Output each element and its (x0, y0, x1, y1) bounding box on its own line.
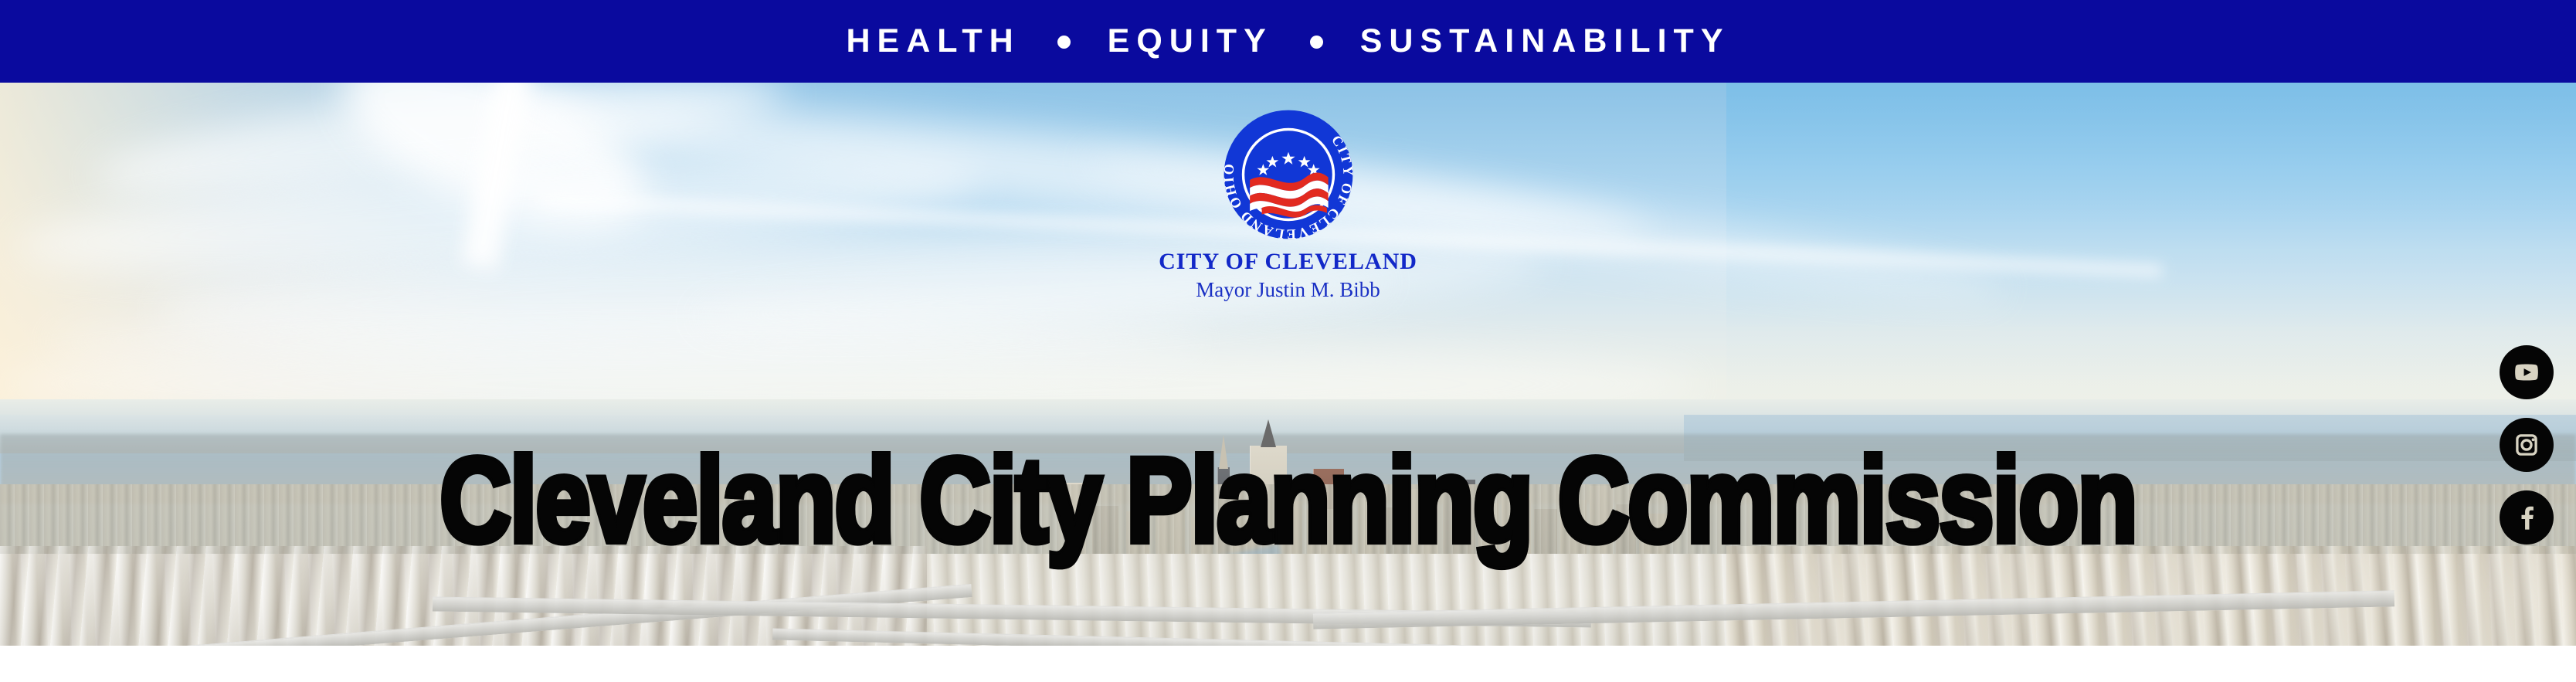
social-media-rail (2499, 345, 2554, 545)
instagram-icon (2510, 428, 2544, 462)
youtube-link[interactable] (2500, 345, 2554, 399)
bullet-dot-icon (1057, 36, 1071, 49)
city-of-cleveland-logo[interactable]: CITY OF CLEVELAND OHIO CITY OF CLEVELAND… (1126, 108, 1451, 302)
tagline-word-sustainability: SUSTAINABILITY (1360, 25, 1730, 58)
logo-mayor-name: Mayor Justin M. Bibb (1126, 279, 1451, 302)
tagline-word-equity: EQUITY (1108, 25, 1273, 58)
city-of-cleveland-seal-icon: CITY OF CLEVELAND OHIO (1222, 108, 1355, 241)
page-title: Cleveland City Planning Commission (39, 440, 2537, 561)
tagline-word-health: HEALTH (846, 25, 1020, 58)
instagram-link[interactable] (2500, 418, 2554, 472)
bullet-dot-icon (1310, 36, 1323, 49)
page-root: HEALTH EQUITY SUSTAINABILITY (0, 0, 2576, 682)
bottom-white-strip (0, 646, 2576, 682)
facebook-link[interactable] (2500, 490, 2554, 545)
facebook-icon (2510, 500, 2544, 534)
logo-city-name: CITY OF CLEVELAND (1126, 249, 1451, 274)
youtube-icon (2509, 355, 2544, 390)
tagline-inner: HEALTH EQUITY SUSTAINABILITY (846, 25, 1729, 58)
tagline-bar: HEALTH EQUITY SUSTAINABILITY (0, 0, 2576, 83)
